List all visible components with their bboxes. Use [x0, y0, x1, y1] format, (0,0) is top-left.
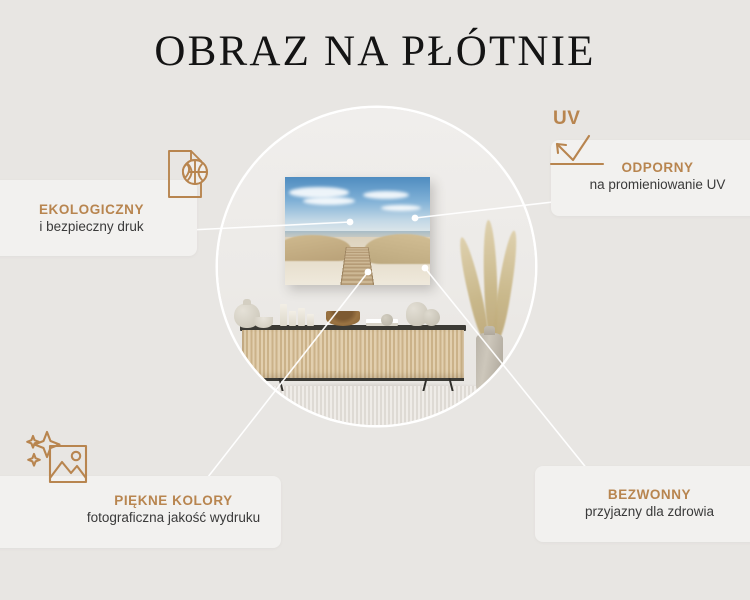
decor-sphere — [381, 314, 393, 326]
ceramic-vase-small — [423, 309, 440, 326]
cloud — [303, 197, 355, 205]
candle — [307, 314, 314, 326]
interior-scene — [218, 108, 535, 425]
eco-document-globe-icon — [155, 145, 215, 208]
feature-kicker-piekne-kolory: PIĘKNE KOLORY — [66, 493, 281, 509]
candle — [280, 304, 287, 326]
page-title: OBRAZ NA PŁÓTNIE — [0, 30, 750, 73]
feature-sub-ekologiczny: i bezpieczny druk — [0, 218, 197, 236]
feature-card-bezwonny[interactable]: BEZWONNY przyjazny dla zdrowia — [535, 466, 750, 542]
cloud — [381, 205, 421, 211]
product-scene-circle — [218, 108, 535, 425]
cloud — [363, 191, 409, 199]
floor-vase — [476, 333, 503, 395]
sparkle-photo-icon — [24, 428, 96, 497]
sideboard — [240, 325, 466, 391]
infographic-poster: OBRAZ NA PŁÓTNIE — [0, 0, 750, 600]
canvas-artwork — [285, 177, 430, 285]
feature-kicker-bezwonny: BEZWONNY — [535, 487, 750, 503]
artwork-dune-right — [364, 234, 430, 264]
artwork-dune-left — [285, 235, 351, 261]
sideboard-fluted-front — [242, 330, 464, 381]
uv-ray-reflect-icon — [545, 108, 615, 181]
feature-sub-piekne-kolory: fotograficzna jakość wydruku — [66, 509, 281, 527]
candle — [289, 311, 296, 326]
feature-sub-bezwonny: przyjazny dla zdrowia — [535, 503, 750, 521]
wooden-bowl — [326, 311, 360, 326]
candle — [298, 308, 305, 326]
small-bowl — [254, 317, 273, 328]
